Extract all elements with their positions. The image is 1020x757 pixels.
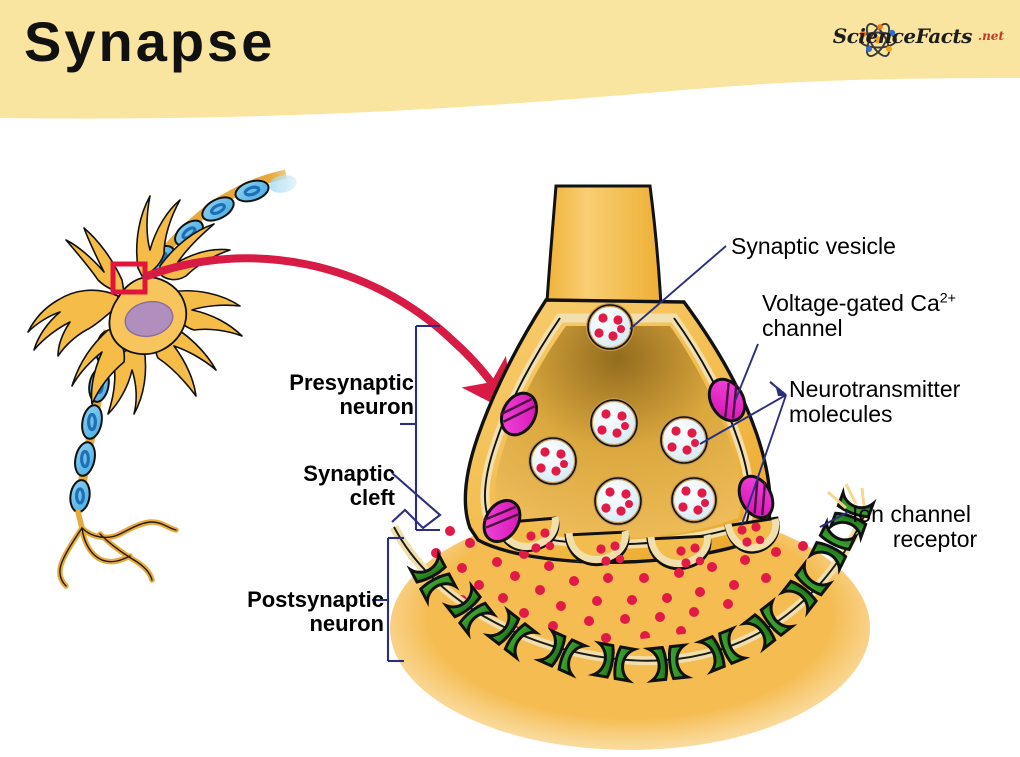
bracket-presynaptic	[400, 326, 440, 530]
label-synaptic-cleft: Synaptic cleft	[174, 462, 395, 510]
label-synaptic-cleft-line1: Synaptic	[303, 461, 395, 486]
label-postsynaptic-line2: neuron	[309, 611, 384, 636]
site-logo[interactable]: ScienceFacts .net	[833, 24, 1004, 48]
label-voltage-gated-ca-line2: channel	[762, 315, 843, 341]
label-neurotransmitter-line2: molecules	[789, 401, 893, 427]
label-presynaptic-line2: neuron	[339, 394, 414, 419]
label-presynaptic-neuron: Presynaptic neuron	[174, 371, 414, 419]
synaptic-vesicle	[530, 438, 576, 484]
label-voltage-gated-ca-channel: Voltage-gated Ca2+ channel	[762, 291, 1012, 341]
synaptic-vesicle	[661, 417, 707, 463]
label-presynaptic-line1: Presynaptic	[289, 370, 414, 395]
synaptic-vesicle	[588, 305, 632, 349]
logo-tld: .net	[978, 29, 1004, 43]
label-ion-channel-line2: receptor	[852, 527, 1018, 552]
synaptic-vesicle	[672, 478, 716, 522]
label-neurotransmitter-molecules: Neurotransmitter molecules	[789, 377, 1011, 427]
label-ion-channel-receptor: Ion channel receptor	[852, 502, 1018, 552]
neurotransmitter-leader-arrowhead	[770, 380, 786, 396]
label-voltage-gated-ca-charge: 2+	[940, 290, 956, 306]
label-postsynaptic-neuron: Postsynaptic neuron	[154, 588, 384, 636]
label-synaptic-vesicle: Synaptic vesicle	[731, 234, 896, 259]
label-ion-channel-line1: Ion channel	[852, 501, 971, 527]
label-postsynaptic-line1: Postsynaptic	[247, 587, 384, 612]
label-voltage-gated-ca-line1: Voltage-gated Ca	[762, 290, 940, 316]
page-title: Synapse	[24, 14, 275, 70]
logo-name: ScienceFacts	[833, 24, 972, 48]
synaptic-vesicle	[591, 400, 637, 446]
diagram-canvas: Synapse ScienceFacts .net Synaptic vesic…	[0, 0, 1020, 757]
label-synaptic-cleft-line2: cleft	[350, 485, 395, 510]
synaptic-vesicle	[595, 478, 641, 524]
label-neurotransmitter-line1: Neurotransmitter	[789, 376, 960, 402]
